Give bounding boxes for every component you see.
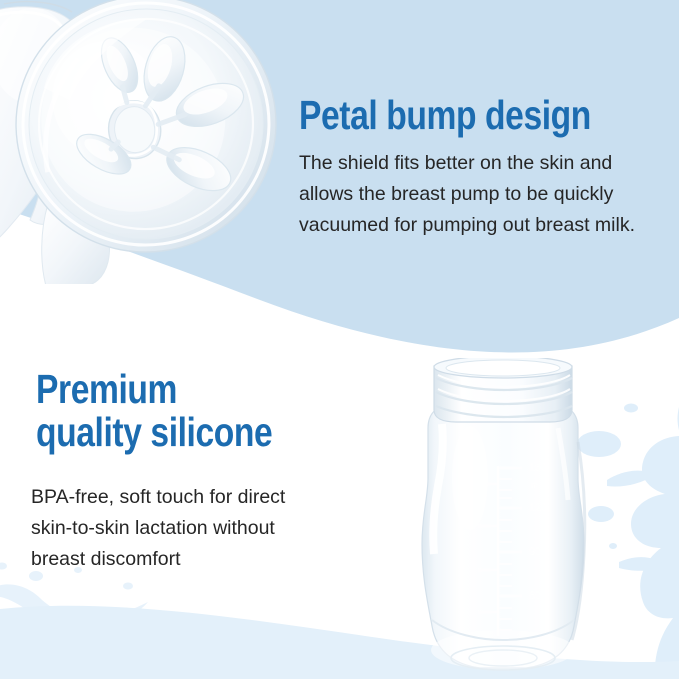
page-title-petal-bump: Petal bump design [299, 94, 591, 137]
scale-ml-60: 60 [529, 590, 541, 602]
description-petal-bump: The shield fits better on the skin and a… [299, 148, 679, 240]
scale-ml-120: 120 [529, 502, 547, 514]
scale-oz-unit: oz [458, 489, 467, 499]
description-premium-silicone: BPA-free, soft touch for direct skin-to-… [31, 482, 361, 574]
scale-oz-4: 4 [459, 518, 465, 530]
scale-oz-2: 2 [459, 604, 465, 616]
scale-ml-90: 90 [529, 546, 541, 558]
page-title-premium-silicone: Premium quality silicone [36, 368, 272, 453]
scale-oz-3: 3 [459, 562, 465, 574]
breast-pump-image [0, 0, 286, 284]
scale-ml-unit: ml [531, 480, 540, 490]
scale-oz-5: 5 [459, 475, 465, 487]
product-infographic: Petal bump design The shield fits better… [0, 0, 679, 679]
scale-ml-150: 150 [529, 462, 547, 474]
milk-bottle-image: 5 oz 4 3 2 150 ml 120 90 60 [398, 358, 608, 679]
